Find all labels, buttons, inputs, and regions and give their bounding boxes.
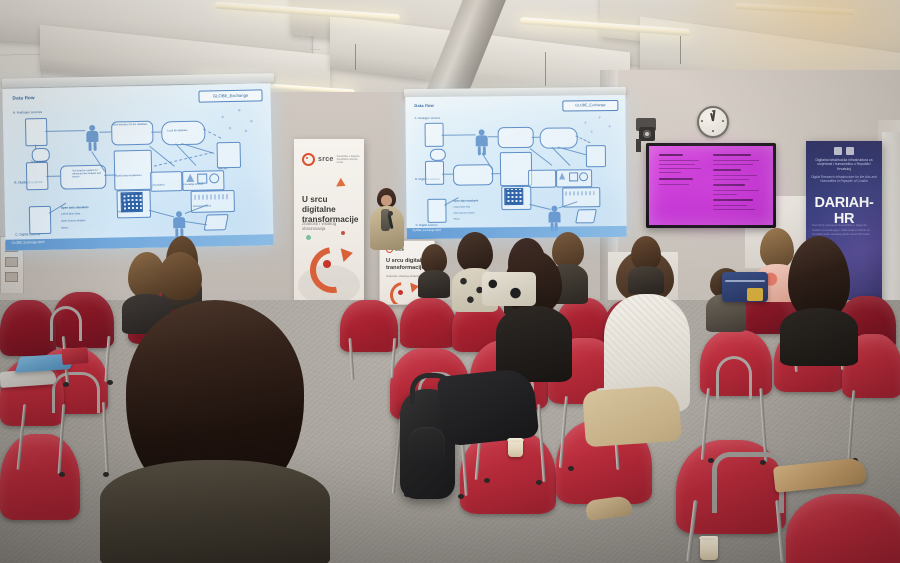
node-scanner-ocr <box>430 149 446 161</box>
label-network-analysis: Network analysis <box>118 211 135 213</box>
presenter-at-podium <box>367 188 407 250</box>
flow-link-dashed <box>154 152 213 167</box>
label-knowledge-structure: Knowledge structure <box>183 184 203 186</box>
dariah-partner-logos <box>834 147 854 155</box>
red-notebook[interactable] <box>61 347 88 365</box>
shape-square <box>197 174 207 184</box>
label-scanning-ocr: Scanning OCR <box>31 160 47 163</box>
srce-logo-word: srce <box>318 156 334 163</box>
node-database <box>540 127 578 148</box>
coffee-cup[interactable] <box>700 536 718 560</box>
timeline-ticks <box>195 194 229 200</box>
flow-link <box>35 145 36 150</box>
srce-logo-mark-icon <box>302 153 315 166</box>
flow-link <box>151 132 161 133</box>
attendee-trousers <box>582 385 682 448</box>
ceiling-cable <box>545 52 546 86</box>
srce-logo-subtext: Sveučilište u Zagrebu Sveučilišni računs… <box>337 155 363 165</box>
label-analogue-sources: A. Analogue sources <box>414 116 440 120</box>
slide-title: Data flow <box>414 103 434 108</box>
label-visualisation: Visualisation <box>152 184 164 186</box>
user-leg <box>88 142 91 151</box>
chair[interactable] <box>786 494 900 563</box>
user-body <box>548 212 560 223</box>
attendee-hair <box>631 236 661 270</box>
left-projection-screen: Data flow GLOBE_Exchange A. Analogue sou… <box>2 83 273 251</box>
label-database: Local db database <box>167 129 187 132</box>
shape-triangle <box>186 174 194 182</box>
label-text-explorer: Text Explorer system for advanced text a… <box>72 169 102 179</box>
wall-camera-icon <box>639 127 655 141</box>
flow-link <box>491 173 501 174</box>
attendee-torso <box>780 308 858 366</box>
srce-logo: srce Sveučilište u Zagrebu Sveučilišni r… <box>302 153 363 166</box>
conference-room-photo: Data flow GLOBE_Exchange A. Analogue sou… <box>0 0 900 563</box>
flow-link <box>149 210 174 218</box>
slide-footer-text: GLOBE_Exchange 2023 <box>413 229 441 232</box>
partner-logo-icon <box>834 147 842 155</box>
srce-rollup-banner: srce Sveučilište u Zagrebu Sveučilišni r… <box>294 139 364 309</box>
attendee-foreground <box>100 300 330 563</box>
attendee-jacket <box>100 460 330 563</box>
flow-link <box>532 137 540 138</box>
chair-foot <box>458 494 464 499</box>
flow-link <box>442 174 453 175</box>
label-digital-sources: C. Digital sources <box>416 223 438 227</box>
attendee-torso <box>418 270 450 298</box>
flow-link <box>530 148 553 166</box>
bullet-item: Others <box>454 219 460 221</box>
timeline-ticks <box>565 191 594 195</box>
node-visualisation <box>528 170 556 188</box>
attendee-torso <box>628 266 664 294</box>
tv-text-column-right <box>713 154 763 213</box>
flow-link <box>46 176 60 177</box>
network-decoration <box>213 103 262 136</box>
end-user-glyph <box>173 211 185 235</box>
node-books <box>575 209 597 223</box>
flow-link <box>185 221 207 225</box>
dariah-english-line: Digital Research Infrastructure for the … <box>806 175 882 183</box>
node-digitised-doc <box>26 162 49 190</box>
wall-socket[interactable] <box>5 257 18 267</box>
bullets-heading: Open data standards <box>61 205 89 210</box>
network-decoration <box>577 112 617 138</box>
network-graph-thumb <box>121 192 143 212</box>
user-glyph <box>476 129 488 153</box>
flow-link <box>99 132 111 133</box>
right-projection-screen: Data flow GLOBE_Exchange A. Analogue sou… <box>405 95 626 239</box>
wall-tv-monitor[interactable] <box>646 143 776 228</box>
wall-socket[interactable] <box>5 272 18 282</box>
shape-circle <box>579 172 588 181</box>
presenter-face <box>381 195 392 206</box>
slide-title: Data flow <box>12 95 34 100</box>
chair[interactable] <box>0 434 80 520</box>
yellow-pouch[interactable] <box>747 288 763 301</box>
attendee <box>418 244 450 296</box>
node-analogue-doc <box>25 118 48 146</box>
node-web-site <box>586 145 606 167</box>
label-spatial-visualisation: Spatial data visualisation <box>115 174 141 178</box>
partner-logo-icon <box>846 147 854 155</box>
chair-foot <box>484 478 490 483</box>
backpack-pocket <box>409 427 445 467</box>
node-web-interface <box>498 127 534 148</box>
flow-link <box>558 147 587 156</box>
tv-screen <box>649 146 773 225</box>
user-body <box>476 135 488 146</box>
chair-foot <box>536 480 542 485</box>
banner-dot-red <box>341 231 345 235</box>
chair-foot <box>568 466 574 471</box>
shape-triangle <box>559 172 565 179</box>
slide-tag-globe-exchange: GLOBE_Exchange <box>198 89 262 102</box>
bag-zip <box>725 280 765 282</box>
podium-swirl-dot <box>398 290 403 295</box>
bullet-item: Linked Open Data <box>61 212 80 215</box>
banner-swirl-dot <box>323 260 331 268</box>
slide-footer-text: GLOBE_Exchange 2023 <box>12 240 45 245</box>
label-analogue-sources: A. Analogue sources <box>13 110 42 115</box>
node-visualisation <box>150 171 182 192</box>
bullet-item: Open Science initiative <box>453 212 474 214</box>
patterned-bag[interactable] <box>482 272 536 306</box>
coat-draped-on-chair <box>437 367 540 447</box>
microphone-head-icon <box>388 211 393 216</box>
node-digital-doc <box>29 206 52 234</box>
chair-arm-hoop[interactable] <box>712 452 784 513</box>
attendee-hair <box>457 232 493 272</box>
attendee <box>780 236 858 364</box>
flow-link <box>442 134 476 135</box>
camera-lens <box>643 130 651 138</box>
banner-swirl-arrow-icon <box>341 246 355 262</box>
node-digital-doc <box>427 199 446 223</box>
bullet-item: Linked Open Data <box>453 206 470 208</box>
banner-dot-green <box>306 235 311 240</box>
ceiling-cable <box>355 44 356 70</box>
user-leg <box>478 146 481 155</box>
chair-arm-hoop[interactable] <box>716 356 752 399</box>
user-leg <box>93 142 96 151</box>
banner-subhead: znanosti i visokog obrazovanja <box>302 221 360 231</box>
chair[interactable] <box>400 298 456 348</box>
slide-tag-globe-exchange: GLOBE_Exchange <box>562 100 618 112</box>
node-text-explorer <box>453 164 493 185</box>
node-database <box>161 121 205 146</box>
user-body <box>173 217 185 228</box>
user-body <box>86 131 98 142</box>
tv-text-column-left <box>659 154 703 188</box>
node-web-site <box>217 142 242 168</box>
chair-foot <box>63 382 69 387</box>
dariah-croatian-line: Digitalna istraživačka infrastruktura za… <box>806 158 882 171</box>
attendee <box>152 252 208 322</box>
banner-accent-arrow <box>336 178 348 191</box>
node-books <box>204 214 229 231</box>
wall-clock <box>697 106 729 138</box>
shape-square <box>569 172 578 181</box>
attendee-hair <box>158 252 202 300</box>
user-glyph <box>85 125 100 153</box>
flow-link <box>45 130 85 132</box>
chair-foot <box>59 472 65 477</box>
chair-arm-hoop[interactable] <box>50 306 82 341</box>
attendee <box>496 250 572 380</box>
network-graph-thumb <box>504 188 523 205</box>
attendee <box>628 236 664 292</box>
flow-link <box>488 136 498 137</box>
bullet-item: Open Science initiative <box>61 219 85 223</box>
chair-arm-hoop[interactable] <box>52 372 100 413</box>
bullet-item: Others <box>61 226 68 229</box>
bullets-heading: Open data standards <box>453 199 478 202</box>
coffee-cup[interactable] <box>508 438 523 457</box>
node-spatial-visualisation <box>114 150 153 191</box>
